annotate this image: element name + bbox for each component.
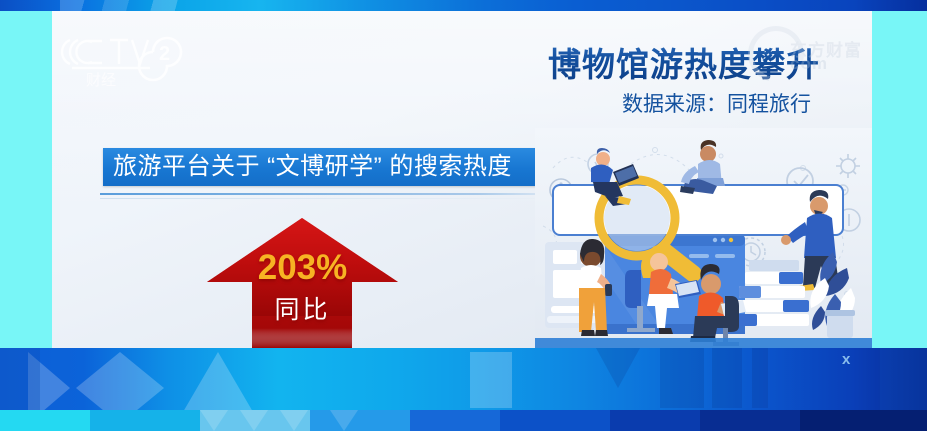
bottom-decorative-band bbox=[0, 348, 927, 431]
headline-banner: 旅游平台关于 “文博研学” 的搜索热度 bbox=[103, 148, 558, 186]
svg-text:2: 2 bbox=[159, 43, 170, 65]
online-search-illustration bbox=[535, 128, 872, 348]
banner-underline-2 bbox=[100, 198, 572, 199]
data-source-subtitle: 数据来源：同程旅行 bbox=[622, 88, 922, 118]
banner-underline bbox=[100, 193, 572, 195]
page-title: 博物馆游热度攀升 bbox=[548, 38, 878, 86]
close-icon[interactable]: x bbox=[842, 351, 850, 368]
cctv-channel-name-cai: 财经 bbox=[86, 72, 116, 89]
top-gradient-bar bbox=[0, 0, 927, 11]
growth-percentage: 203% bbox=[205, 248, 400, 288]
growth-label: 同比 bbox=[205, 290, 400, 326]
right-cyan-strip bbox=[872, 11, 927, 348]
left-cyan-strip bbox=[0, 11, 52, 348]
tv-broadcast-frame: 2 财经 博物馆游热度攀升 数据来源：同程旅行 东方财富 com 旅游平台关于 … bbox=[0, 0, 927, 431]
growth-arrow: 203% 同比 bbox=[205, 216, 400, 348]
cctv2-logo: 2 财经 bbox=[58, 30, 188, 92]
headline-banner-text: 旅游平台关于 “文博研学” 的搜索热度 bbox=[113, 152, 512, 182]
